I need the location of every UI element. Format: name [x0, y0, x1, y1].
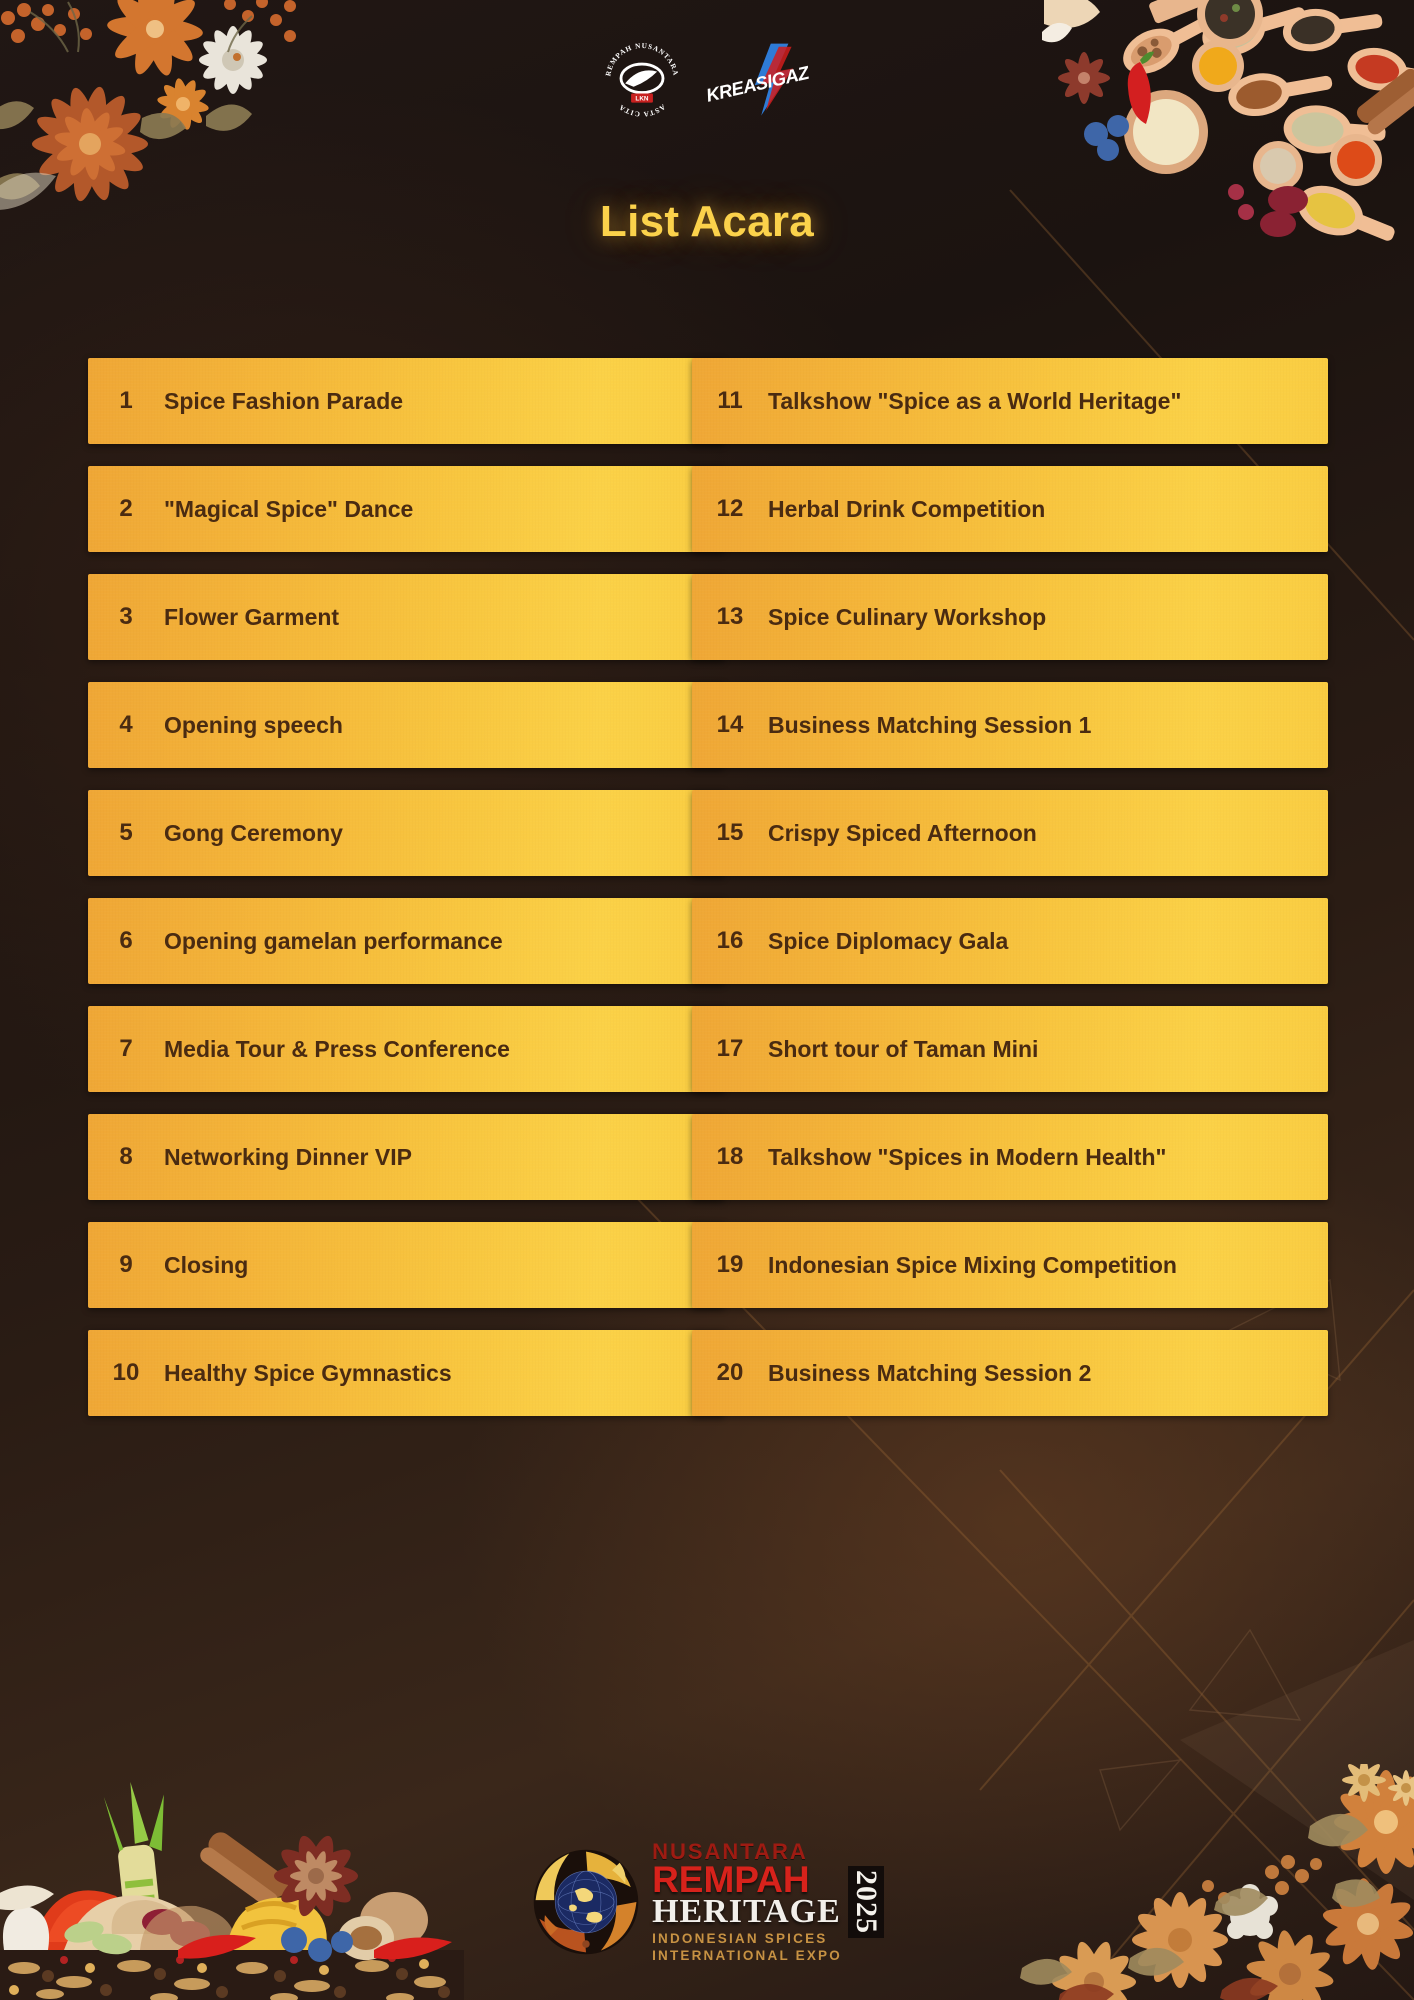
event-number: 7 [88, 1035, 164, 1063]
event-label: Business Matching Session 1 [768, 710, 1101, 740]
event-number: 14 [692, 711, 768, 739]
event-label: Media Tour & Press Conference [164, 1034, 520, 1064]
event-label: Spice Fashion Parade [164, 386, 413, 416]
event-label: Herbal Drink Competition [768, 494, 1055, 524]
poster-canvas: REMPAH NUSANTARA ASTA CITA LKN KREASIGAZ [0, 0, 1414, 2000]
svg-text:ASTA CITA: ASTA CITA [617, 102, 666, 118]
event-number: 13 [692, 603, 768, 631]
event-list-left-column: 1Spice Fashion Parade2"Magical Spice" Da… [88, 358, 724, 1416]
page-title: List Acara [0, 197, 1414, 247]
event-number: 6 [88, 927, 164, 955]
event-number: 9 [88, 1251, 164, 1279]
event-row[interactable]: 7Media Tour & Press Conference [88, 1006, 724, 1092]
svg-text:LKN: LKN [635, 96, 648, 103]
event-row[interactable]: 1Spice Fashion Parade [88, 358, 724, 444]
event-row[interactable]: 13Spice Culinary Workshop [692, 574, 1328, 660]
asta-cita-rempah-nusantara-logo: REMPAH NUSANTARA ASTA CITA LKN [600, 38, 684, 122]
event-row[interactable]: 20Business Matching Session 2 [692, 1330, 1328, 1416]
event-label: Opening gamelan performance [164, 926, 513, 956]
event-label: Talkshow "Spice as a World Heritage" [768, 386, 1191, 416]
kreasigaz-logo: KREASIGAZ [702, 42, 814, 118]
event-label: Crispy Spiced Afternoon [768, 818, 1047, 848]
event-number: 5 [88, 819, 164, 847]
event-row[interactable]: 11Talkshow "Spice as a World Heritage" [692, 358, 1328, 444]
event-row[interactable]: 15Crispy Spiced Afternoon [692, 790, 1328, 876]
globe-spice-emblem-icon [530, 1846, 642, 1958]
event-label: "Magical Spice" Dance [164, 494, 423, 524]
event-number: 18 [692, 1143, 768, 1171]
event-number: 10 [88, 1359, 164, 1387]
event-number: 1 [88, 387, 164, 415]
footer-line-international-expo: INTERNATIONAL EXPO [652, 1949, 842, 1963]
event-row[interactable]: 8Networking Dinner VIP [88, 1114, 724, 1200]
event-list-grid: 1Spice Fashion Parade2"Magical Spice" Da… [88, 358, 1328, 1416]
event-number: 12 [692, 495, 768, 523]
header-logos: REMPAH NUSANTARA ASTA CITA LKN KREASIGAZ [0, 38, 1414, 122]
event-row[interactable]: 16Spice Diplomacy Gala [692, 898, 1328, 984]
event-row[interactable]: 5Gong Ceremony [88, 790, 724, 876]
event-number: 20 [692, 1359, 768, 1387]
footer-logo: NUSANTARA REMPAH HERITAGE INDONESIAN SPI… [0, 1841, 1414, 1962]
event-row[interactable]: 10Healthy Spice Gymnastics [88, 1330, 724, 1416]
event-row[interactable]: 18Talkshow "Spices in Modern Health" [692, 1114, 1328, 1200]
event-label: Flower Garment [164, 602, 349, 632]
event-number: 2 [88, 495, 164, 523]
event-label: Indonesian Spice Mixing Competition [768, 1250, 1187, 1280]
event-label: Talkshow "Spices in Modern Health" [768, 1142, 1176, 1172]
event-number: 3 [88, 603, 164, 631]
event-label: Networking Dinner VIP [164, 1142, 422, 1172]
event-row[interactable]: 19Indonesian Spice Mixing Competition [692, 1222, 1328, 1308]
event-label: Spice Diplomacy Gala [768, 926, 1018, 956]
svg-text:KREASIGAZ: KREASIGAZ [704, 61, 812, 105]
event-label: Short tour of Taman Mini [768, 1034, 1048, 1064]
event-label: Closing [164, 1250, 258, 1280]
event-number: 4 [88, 711, 164, 739]
event-label: Business Matching Session 2 [768, 1358, 1101, 1388]
event-number: 8 [88, 1143, 164, 1171]
event-label: Spice Culinary Workshop [768, 602, 1056, 632]
event-row[interactable]: 6Opening gamelan performance [88, 898, 724, 984]
event-number: 17 [692, 1035, 768, 1063]
event-row[interactable]: 9Closing [88, 1222, 724, 1308]
event-row[interactable]: 17Short tour of Taman Mini [692, 1006, 1328, 1092]
event-row[interactable]: 3Flower Garment [88, 574, 724, 660]
event-label: Healthy Spice Gymnastics [164, 1358, 462, 1388]
event-number: 16 [692, 927, 768, 955]
event-row[interactable]: 14Business Matching Session 1 [692, 682, 1328, 768]
footer-wordmark: NUSANTARA REMPAH HERITAGE INDONESIAN SPI… [652, 1841, 884, 1962]
event-label: Gong Ceremony [164, 818, 353, 848]
event-row[interactable]: 12Herbal Drink Competition [692, 466, 1328, 552]
event-number: 15 [692, 819, 768, 847]
footer-line-heritage: HERITAGE [652, 1895, 842, 1929]
footer-line-indonesian-spices: INDONESIAN SPICES [652, 1932, 842, 1946]
event-row[interactable]: 2"Magical Spice" Dance [88, 466, 724, 552]
event-row[interactable]: 4Opening speech [88, 682, 724, 768]
event-number: 11 [692, 387, 768, 415]
event-label: Opening speech [164, 710, 353, 740]
event-number: 19 [692, 1251, 768, 1279]
event-list-right-column: 11Talkshow "Spice as a World Heritage"12… [692, 358, 1328, 1416]
footer-year: 2025 [848, 1866, 884, 1938]
